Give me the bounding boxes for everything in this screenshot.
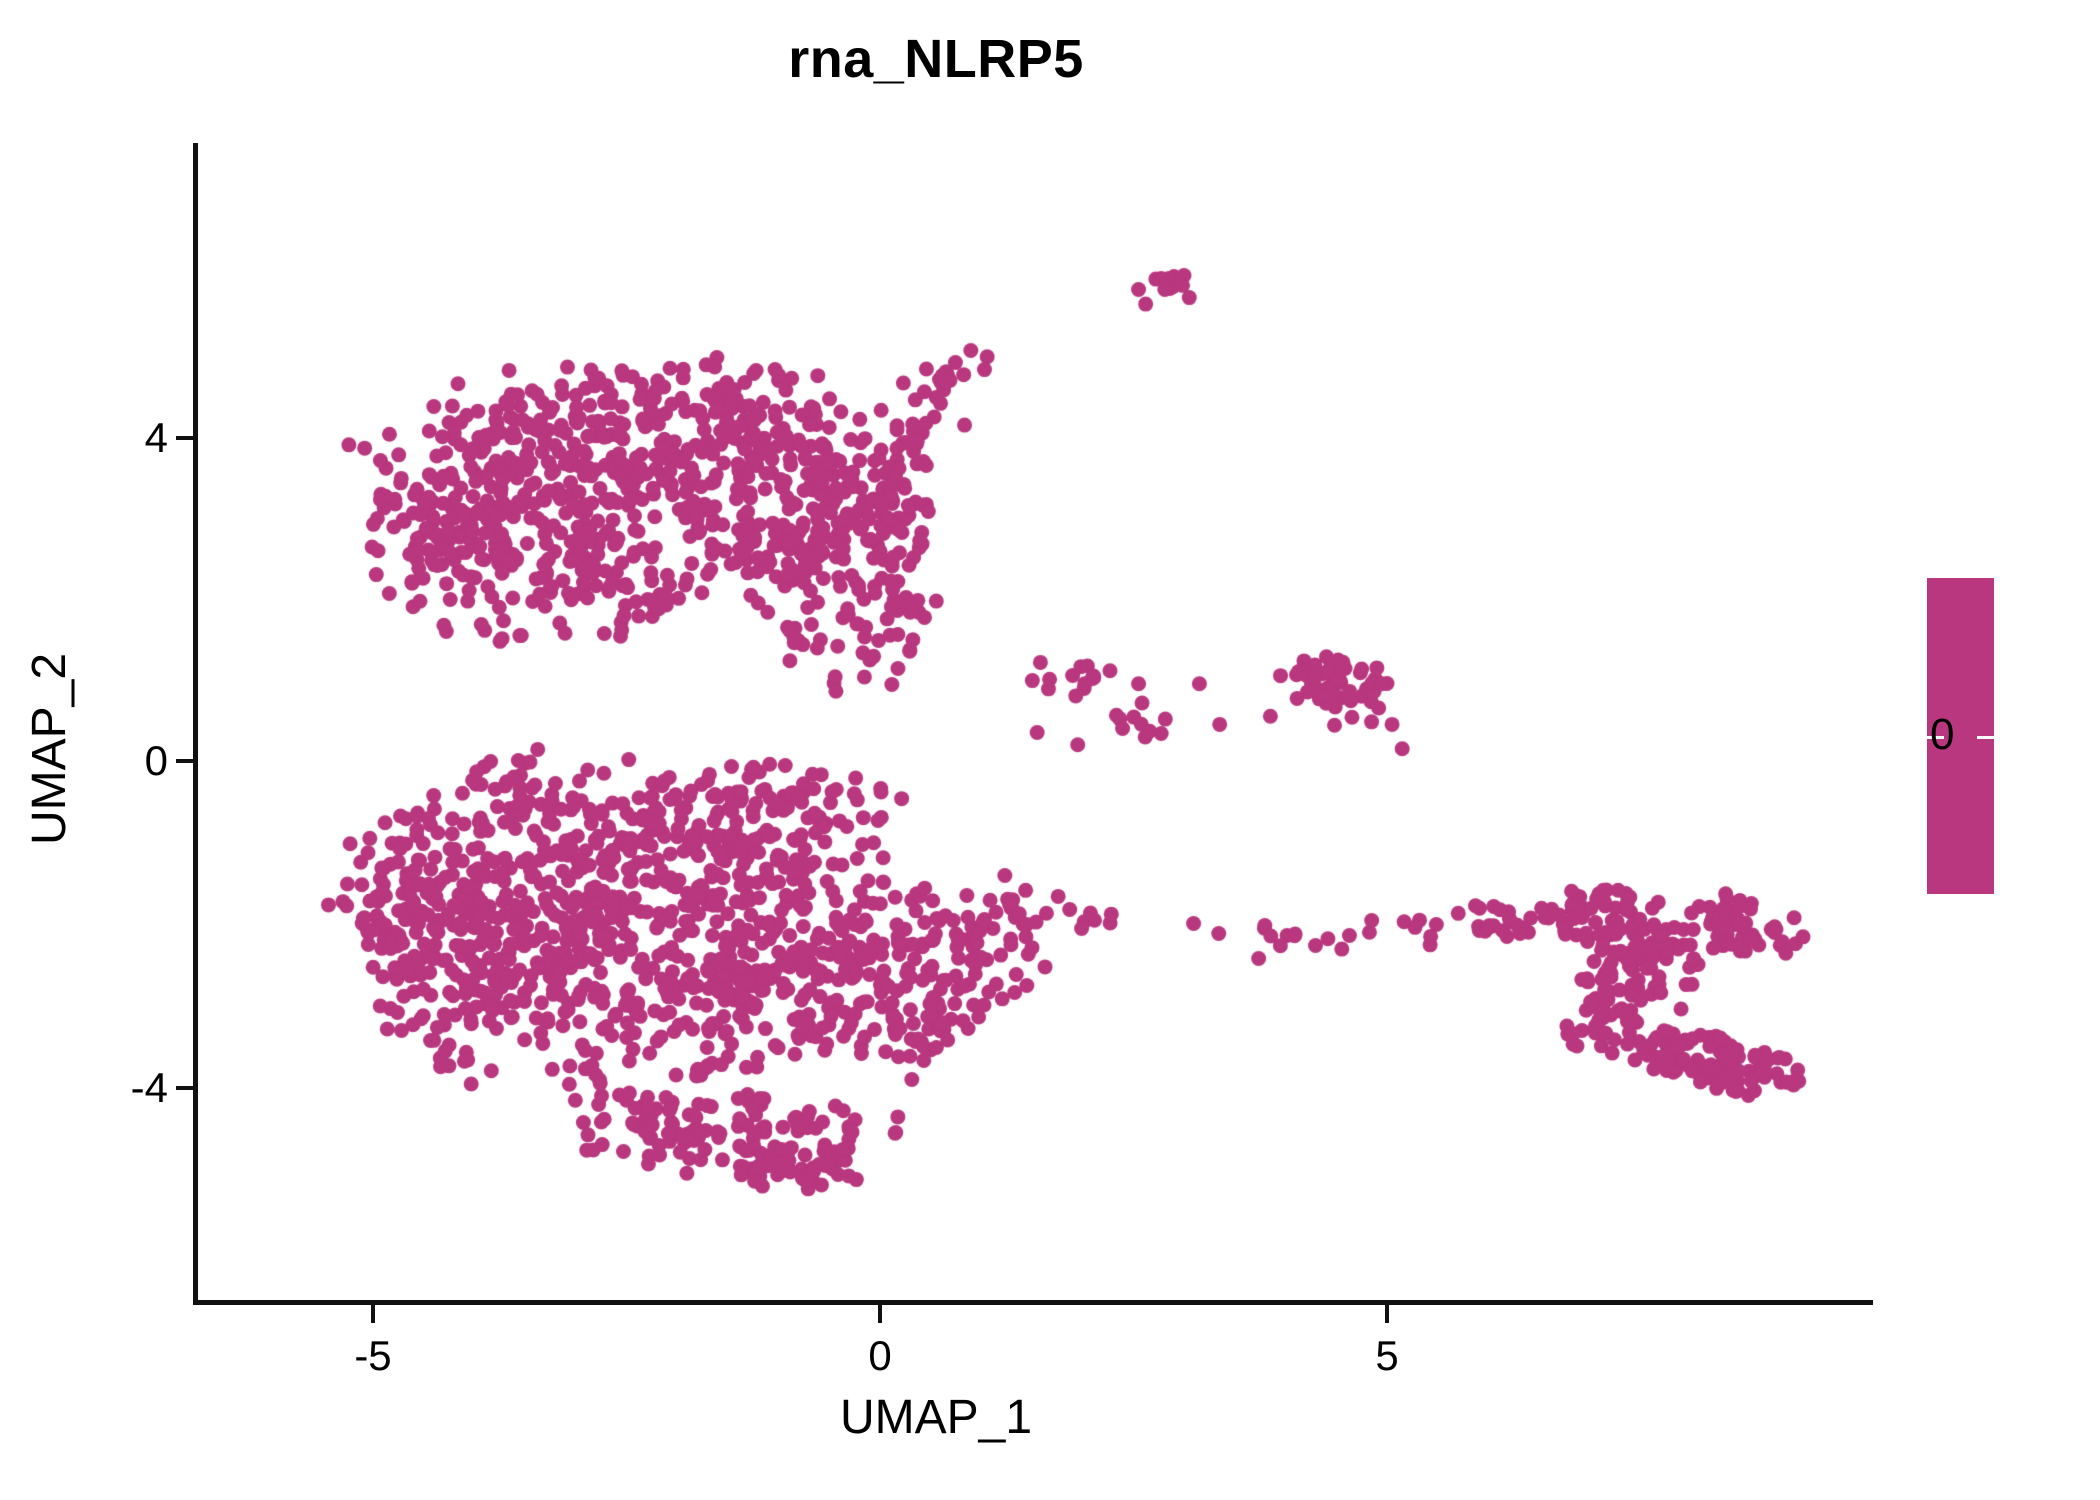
- y-tick-label-4: 4: [145, 414, 168, 462]
- x-tick-label-5: 5: [1375, 1332, 1398, 1380]
- figure-canvas: rna_NLRP5 4 0 -4 -5 0 5 UMAP_1 UMAP_2 0: [0, 0, 2100, 1500]
- x-tick-mark-5: [1385, 1305, 1389, 1323]
- colorbar-tick-label-0: 0: [1930, 710, 1954, 760]
- x-tick-label-0: 0: [868, 1332, 891, 1380]
- y-axis-title: UMAP_2: [22, 653, 77, 845]
- scatter-plot-points: [0, 0, 2100, 1500]
- x-tick-mark--5: [371, 1305, 375, 1323]
- x-tick-mark-0: [878, 1305, 882, 1323]
- y-tick-mark-4: [176, 436, 194, 440]
- x-axis-title: UMAP_1: [0, 1390, 1872, 1445]
- y-tick-label--4: -4: [131, 1064, 168, 1112]
- y-tick-mark--4: [176, 1086, 194, 1090]
- colorbar-tick-right: [1977, 736, 1994, 739]
- y-tick-label-0: 0: [145, 737, 168, 785]
- y-tick-mark-0: [176, 759, 194, 763]
- x-tick-label--5: -5: [354, 1332, 391, 1380]
